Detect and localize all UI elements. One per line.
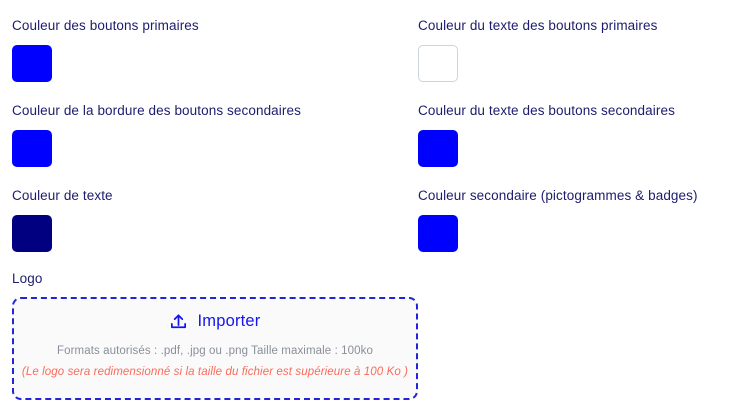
color-swatch-secondary-buttons-text-color[interactable] <box>418 130 458 167</box>
color-fields-grid: Couleur des boutons primaires Couleur du… <box>12 18 717 273</box>
logo-label: Logo <box>12 271 418 287</box>
color-field-primary-buttons-color: Couleur des boutons primaires <box>12 18 418 103</box>
logo-upload-field: Logo Importer Formats autorisés : .pdf, … <box>12 271 418 400</box>
color-swatch-primary-buttons-color[interactable] <box>12 45 52 82</box>
logo-resize-warning: (Le logo sera redimensionné si la taille… <box>22 365 408 379</box>
color-swatch-secondary-color[interactable] <box>418 215 458 252</box>
color-swatch-primary-buttons-text-color[interactable] <box>418 45 458 82</box>
upload-icon <box>169 312 188 331</box>
color-field-text-color: Couleur de texte <box>12 188 418 273</box>
color-swatch-secondary-buttons-border-color[interactable] <box>12 130 52 167</box>
color-field-label: Couleur des boutons primaires <box>12 18 418 34</box>
color-field-label: Couleur de la bordure des boutons second… <box>12 103 418 119</box>
color-field-label: Couleur de texte <box>12 188 418 204</box>
import-button[interactable]: Importer <box>169 312 260 331</box>
color-field-secondary-buttons-text-color: Couleur du texte des boutons secondaires <box>418 103 717 188</box>
color-swatch-text-color[interactable] <box>12 215 52 252</box>
color-field-label: Couleur du texte des boutons secondaires <box>418 103 717 119</box>
logo-dropzone[interactable]: Importer Formats autorisés : .pdf, .jpg … <box>12 297 418 400</box>
logo-formats-hint: Formats autorisés : .pdf, .jpg ou .png T… <box>57 344 373 358</box>
color-field-secondary-buttons-border-color: Couleur de la bordure des boutons second… <box>12 103 418 188</box>
import-button-label: Importer <box>197 312 260 331</box>
color-field-label: Couleur du texte des boutons primaires <box>418 18 717 34</box>
branding-settings-form: Couleur des boutons primaires Couleur du… <box>0 0 729 412</box>
color-field-secondary-color: Couleur secondaire (pictogrammes & badge… <box>418 188 717 273</box>
color-field-label: Couleur secondaire (pictogrammes & badge… <box>418 188 717 204</box>
color-field-primary-buttons-text-color: Couleur du texte des boutons primaires <box>418 18 717 103</box>
